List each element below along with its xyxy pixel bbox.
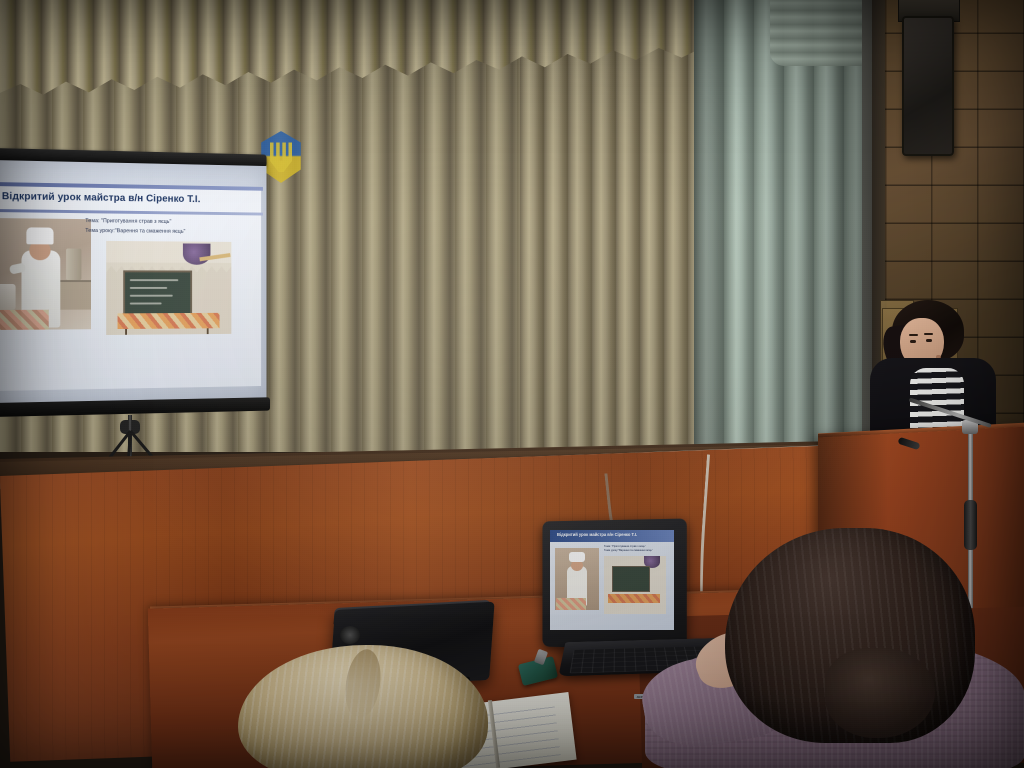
table-leg bbox=[125, 329, 127, 335]
kitchen-shelf bbox=[58, 280, 91, 310]
slide-lesson-line: Тема уроку:"Варення та смаження яєць" bbox=[85, 226, 247, 237]
blackboard-icon bbox=[123, 270, 192, 315]
slide-title: Відкритий урок майстра в/н Сіренко Т.І. bbox=[2, 190, 258, 206]
slide-body-text: Тема: "Приготування страв з яєць" Тема у… bbox=[85, 217, 247, 237]
screen-surface: Відкритий урок майстра в/н Сіренко Т.І. … bbox=[0, 160, 266, 405]
laptop-slide-photo-cook bbox=[555, 548, 599, 610]
slide-top-accent bbox=[0, 182, 263, 191]
wall-speaker-icon bbox=[902, 16, 954, 156]
kitchen-pot bbox=[0, 284, 16, 310]
table-leg bbox=[207, 328, 209, 335]
chalk-line bbox=[130, 279, 178, 281]
floral-tablecloth bbox=[0, 310, 49, 330]
laptop-operator-person bbox=[645, 528, 1024, 768]
slide-photo-classroom bbox=[106, 241, 231, 335]
eyebrow bbox=[924, 333, 933, 335]
projection-screen: Відкритий урок майстра в/н Сіренко Т.І. … bbox=[0, 148, 274, 423]
eyebrow bbox=[909, 334, 918, 336]
curtain-shadow-overlay bbox=[694, 0, 874, 452]
eye bbox=[910, 340, 916, 343]
chalk-line bbox=[130, 295, 173, 297]
chef-hat-icon bbox=[569, 552, 585, 562]
chef-hat-icon bbox=[26, 227, 53, 244]
classroom-table bbox=[118, 313, 220, 329]
slide-title-rule bbox=[0, 209, 263, 215]
note-taker-person bbox=[238, 645, 488, 768]
projected-slide: Відкритий урок майстра в/н Сіренко Т.І. … bbox=[0, 186, 261, 391]
eye bbox=[926, 339, 932, 342]
kitchen-canister bbox=[66, 248, 81, 280]
classroom-wall-decor bbox=[183, 243, 211, 264]
photo-scene: Відкритий урок майстра в/н Сіренко Т.І. … bbox=[0, 0, 1024, 768]
chalk-line bbox=[130, 287, 167, 289]
operator-hair-curl bbox=[825, 648, 935, 738]
chalk-line bbox=[130, 302, 162, 304]
slide-photo-cook bbox=[0, 218, 91, 330]
floral-tablecloth bbox=[556, 598, 586, 610]
